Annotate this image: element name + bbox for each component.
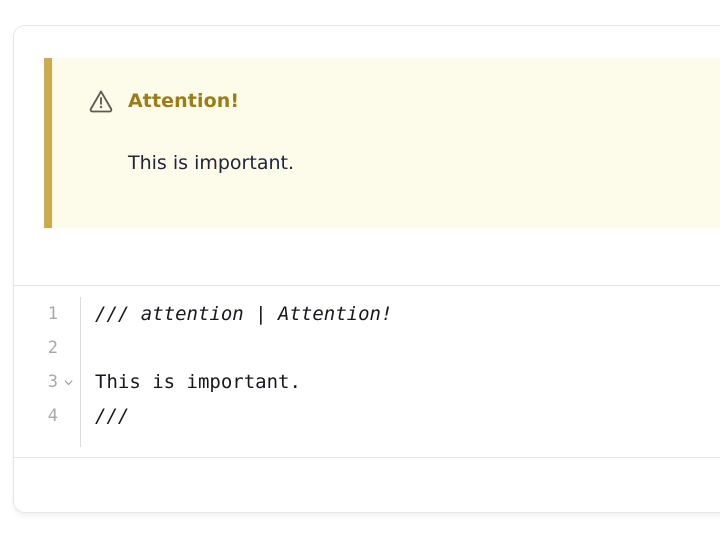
warning-triangle-icon (88, 88, 114, 114)
admonition-body-text: This is important. (128, 152, 294, 174)
fold-placeholder (63, 309, 74, 320)
code-line[interactable]: This is important. (95, 365, 720, 399)
code-line[interactable]: /// (95, 399, 720, 433)
code-line-text: This is important. (95, 373, 301, 392)
code-line-text: /// (95, 407, 129, 426)
line-number: 2 (48, 340, 58, 357)
gutter-row: 4 (14, 399, 80, 433)
code-line[interactable]: /// attention | Attention! (95, 297, 720, 331)
rendered-output-pane: Attention! This is important. (14, 26, 720, 286)
source-code-editor[interactable]: 1 2 3 (14, 287, 720, 458)
gutter-row: 3 (14, 365, 80, 399)
line-number: 4 (48, 408, 58, 425)
editor-gutter: 1 2 3 (14, 297, 81, 447)
admonition-preview-card: Attention! This is important. 1 2 (13, 25, 720, 513)
fold-placeholder (63, 343, 74, 354)
attention-admonition: Attention! This is important. (44, 58, 720, 228)
fold-placeholder (63, 411, 74, 422)
line-number: 3 (48, 374, 58, 391)
screenshot-root: Attention! This is important. 1 2 (0, 0, 720, 544)
admonition-title: Attention! (128, 90, 239, 112)
card-footer (14, 459, 720, 512)
admonition-title-row: Attention! (88, 88, 239, 114)
editor-code-column[interactable]: /// attention | Attention! This is impor… (81, 297, 720, 433)
line-number: 1 (48, 306, 58, 323)
gutter-row: 1 (14, 297, 80, 331)
code-line-text: /// attention | Attention! (95, 305, 392, 324)
chevron-down-icon[interactable] (58, 377, 74, 388)
editor-body: 1 2 3 (14, 297, 720, 457)
gutter-row: 2 (14, 331, 80, 365)
code-line[interactable] (95, 331, 720, 365)
